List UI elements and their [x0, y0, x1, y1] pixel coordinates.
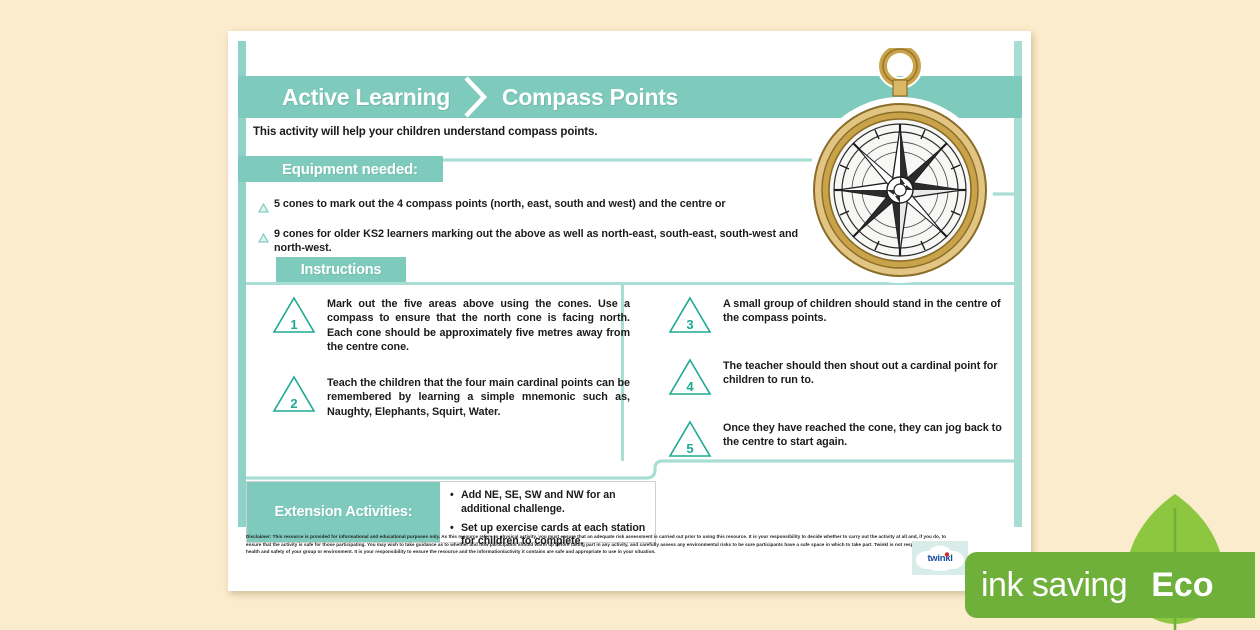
- step-number: 1: [271, 295, 317, 335]
- instructions-column-left: 1 Mark out the five areas above using th…: [246, 285, 630, 460]
- bullet-dot-icon: •: [450, 489, 461, 517]
- step-number: 3: [667, 295, 713, 335]
- eco-badge-content: ink saving Eco: [965, 552, 1255, 618]
- step-text: Teach the children that the four main ca…: [327, 374, 630, 419]
- instruction-step: 5 Once they have reached the cone, they …: [642, 419, 1014, 459]
- screenshot-root: Active Learning Compass Points This acti…: [0, 0, 1260, 630]
- cone-triangle-icon: [258, 198, 274, 218]
- instructions-tab-label: Instructions: [301, 262, 382, 278]
- eco-badge-secondary-text: Eco: [1151, 566, 1213, 605]
- instructions-columns: 1 Mark out the five areas above using th…: [246, 285, 1014, 460]
- step-text: Mark out the five areas above using the …: [327, 295, 630, 354]
- equipment-tab-label: Equipment needed:: [282, 161, 418, 178]
- extension-item-text: Add NE, SE, SW and NW for an additional …: [461, 489, 649, 517]
- disclaimer-text: Disclaimer: This resource is provided fo…: [246, 533, 946, 556]
- page-title: Active Learning: [282, 84, 450, 111]
- extension-connector-rule: [246, 459, 1014, 481]
- cone-triangle-icon: 4: [667, 357, 713, 397]
- compass-illustration: [795, 48, 1005, 288]
- page-subtitle: Compass Points: [502, 84, 678, 111]
- instructions-column-right: 3 A small group of children should stand…: [630, 285, 1014, 460]
- chevron-right-icon: [464, 76, 488, 118]
- step-number: 5: [667, 419, 713, 459]
- step-text: A small group of children should stand i…: [723, 295, 1014, 335]
- disclaimer-prefix: Disclaimer:: [246, 534, 271, 539]
- step-number: 4: [667, 357, 713, 397]
- step-text: The teacher should then shout out a card…: [723, 357, 1014, 397]
- cone-triangle-icon: 3: [667, 295, 713, 335]
- equipment-item-text: 9 cones for older KS2 learners marking o…: [274, 228, 799, 256]
- instruction-step: 1 Mark out the five areas above using th…: [246, 295, 630, 354]
- twinkl-logo: twinkl: [912, 541, 968, 575]
- step-text: Once they have reached the cone, they ca…: [723, 419, 1014, 459]
- disclaimer-body: This resource is provided for informatio…: [246, 534, 946, 554]
- intro-text: This activity will help your children un…: [253, 126, 597, 138]
- cone-triangle-icon: 5: [667, 419, 713, 459]
- instructions-tab: Instructions: [276, 257, 406, 282]
- instruction-step: 2 Teach the children that the four main …: [246, 374, 630, 419]
- instruction-step: 4 The teacher should then shout out a ca…: [642, 357, 1014, 397]
- instruction-step: 3 A small group of children should stand…: [642, 295, 1014, 335]
- cone-triangle-icon: [258, 228, 274, 256]
- eco-badge: ink saving Eco: [965, 526, 1255, 630]
- extension-activities-label: Extension Activities:: [275, 504, 413, 520]
- equipment-item-text: 5 cones to mark out the 4 compass points…: [274, 198, 726, 218]
- cone-triangle-icon: 2: [271, 374, 317, 414]
- eco-badge-primary-text: ink saving: [981, 566, 1127, 605]
- extension-item: • Add NE, SE, SW and NW for an additiona…: [450, 489, 649, 517]
- equipment-tab: Equipment needed:: [238, 156, 443, 182]
- step-number: 2: [271, 374, 317, 414]
- cone-triangle-icon: 1: [271, 295, 317, 335]
- twinkl-cloud-logo: twinkl: [915, 545, 965, 571]
